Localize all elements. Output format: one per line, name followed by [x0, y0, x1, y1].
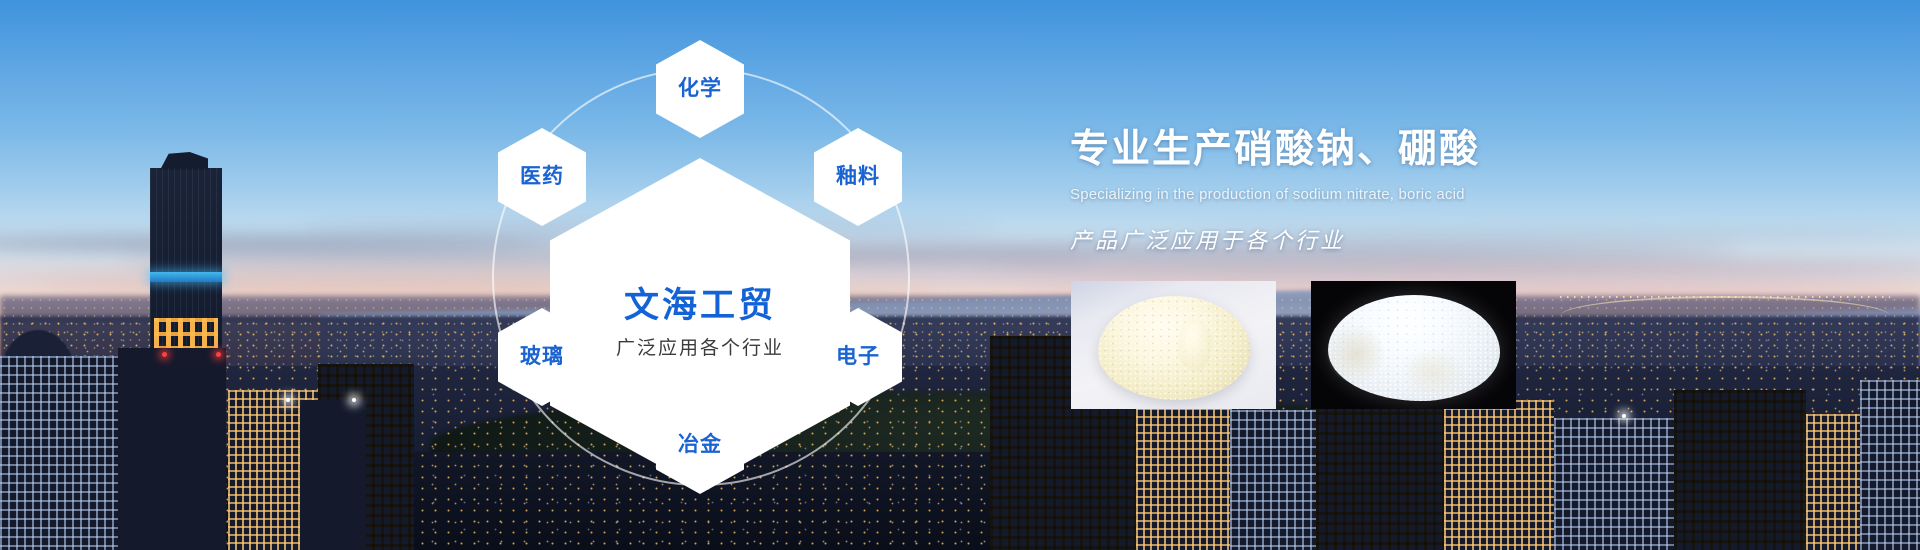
product-photo-boric-acid[interactable]: white crystalline powder on black backgr…	[1311, 281, 1516, 409]
company-name: 文海工贸	[624, 286, 776, 326]
antenna-warning-light	[216, 352, 221, 357]
rooftop-flare-light	[352, 398, 356, 402]
hexagon-label-chemistry: 化学	[678, 77, 722, 101]
building-block	[300, 400, 366, 550]
tower-blue-light-band	[150, 272, 222, 282]
building-block	[118, 348, 226, 550]
building-block	[0, 356, 120, 550]
building-block	[1444, 400, 1554, 550]
product-photo-row: cream pale-yellow granular powder on lig…	[1071, 281, 1516, 409]
hexagon-label-electronics: 电子	[836, 345, 880, 369]
powder-shadow-center	[1401, 348, 1465, 398]
powder-pile	[1098, 296, 1250, 400]
rooftop-flare-light	[286, 398, 290, 402]
hexagon-label-glass: 玻璃	[520, 345, 564, 369]
building-block	[1554, 418, 1674, 550]
hexagon-label-medicine: 医药	[520, 165, 564, 189]
promotional-banner: 文海工贸 广泛应用各个行业 化学 釉料 医药 玻璃 电子 冶金 专业生产硝酸钠、…	[0, 0, 1920, 550]
powder-shadow-left	[1327, 325, 1385, 383]
industry-hexagon-diagram: 文海工贸 广泛应用各个行业 化学 釉料 医药 玻璃 电子 冶金	[440, 18, 960, 538]
company-tagline: 广泛应用各个行业	[616, 338, 784, 360]
powder-granules	[1098, 296, 1250, 400]
rooftop-flare-light	[1622, 414, 1626, 418]
building-block	[1860, 380, 1920, 550]
tagline-chinese: 产品广泛应用于各个行业	[1070, 223, 1710, 255]
marketing-copy-block: 专业生产硝酸钠、硼酸 Specializing in the productio…	[1070, 118, 1710, 255]
building-block	[1674, 390, 1806, 550]
headline-chinese: 专业生产硝酸钠、硼酸	[1070, 118, 1710, 174]
product-photo-sodium-nitrate[interactable]: cream pale-yellow granular powder on lig…	[1071, 281, 1276, 409]
building-block	[1136, 392, 1232, 550]
building-block	[1230, 410, 1316, 550]
antenna-warning-light	[162, 352, 167, 357]
subheadline-english: Specializing in the production of sodium…	[1070, 186, 1710, 203]
hexagon-label-metallurgy: 冶金	[678, 433, 722, 457]
powder-highlight	[1178, 319, 1212, 371]
hexagon-label-glaze: 釉料	[836, 165, 880, 189]
